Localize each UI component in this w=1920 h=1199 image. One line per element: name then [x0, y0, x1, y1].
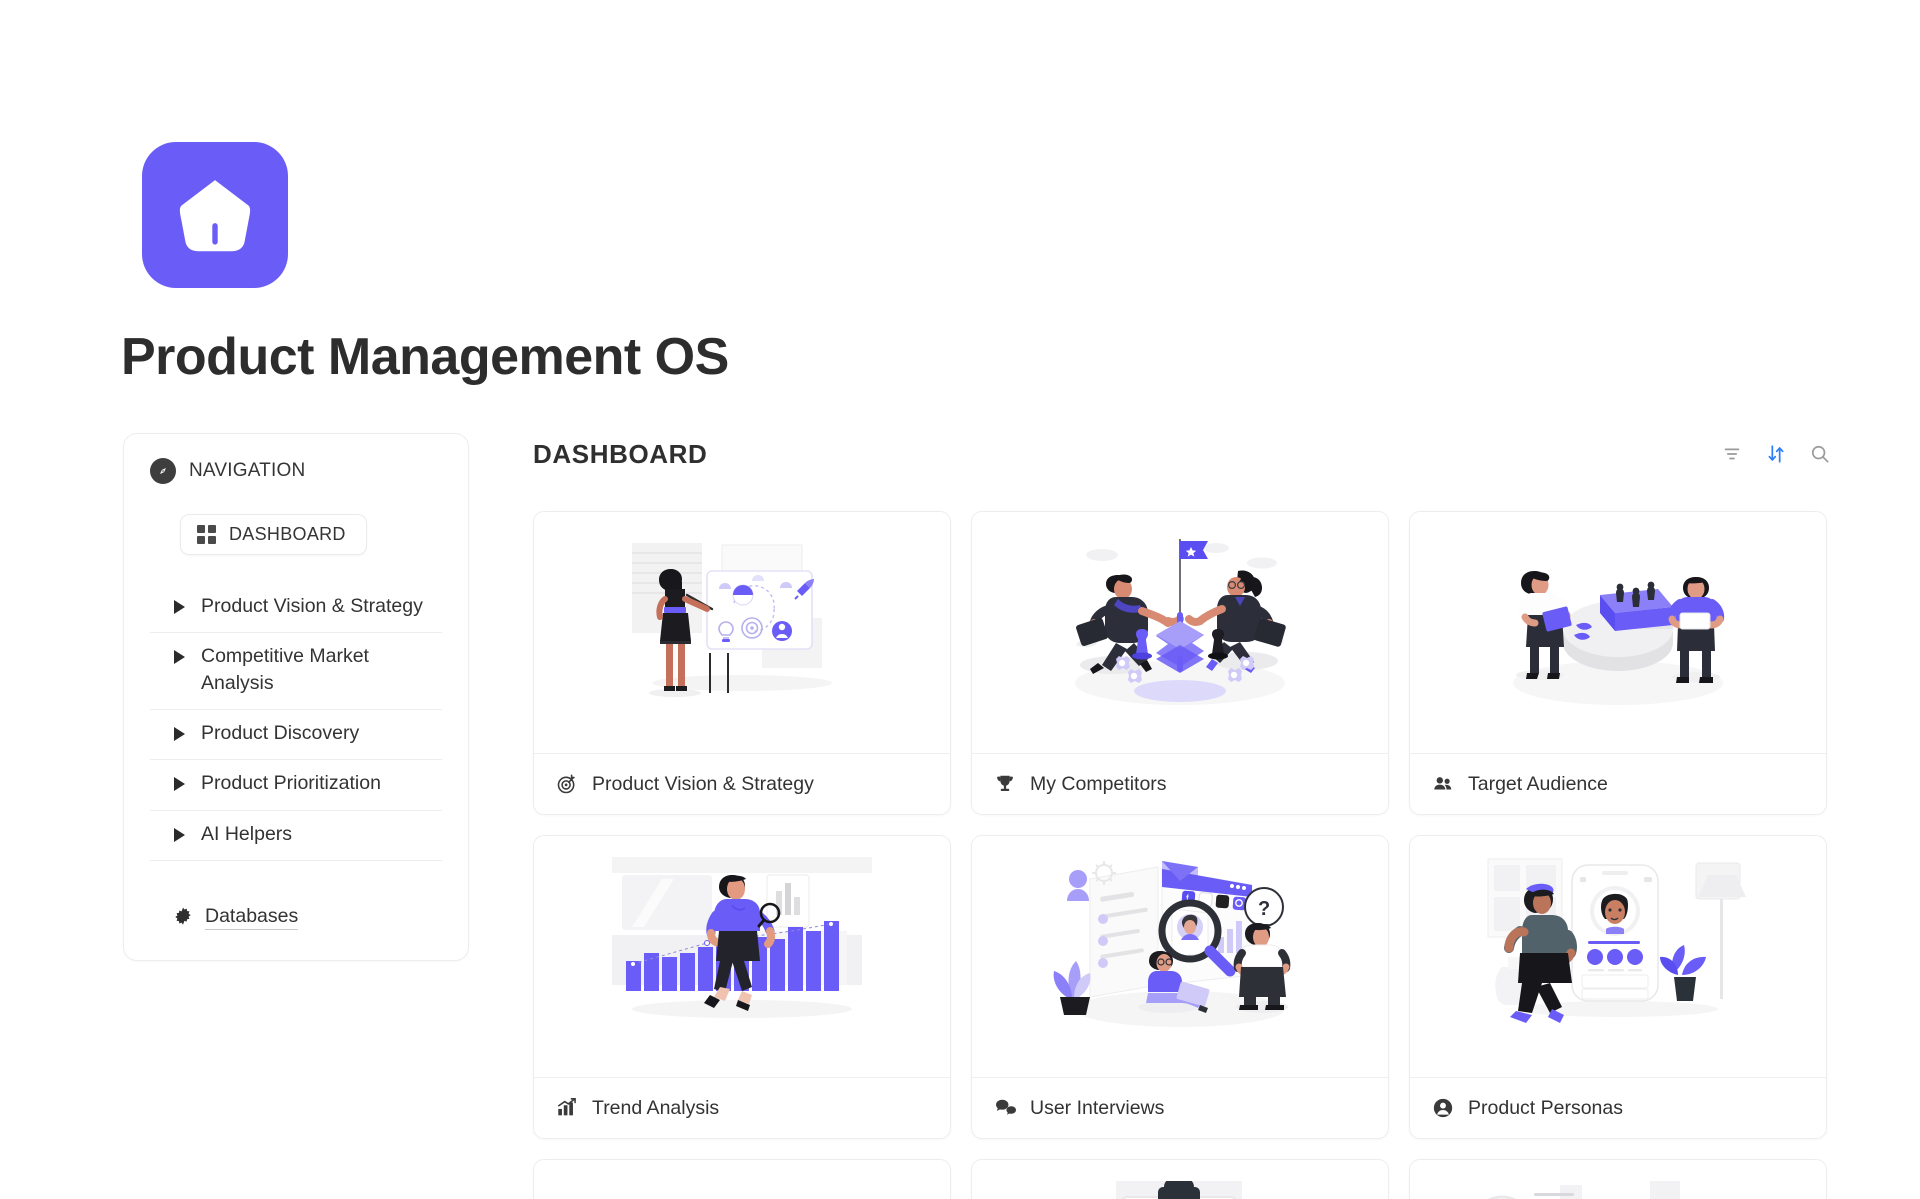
speech-bubbles-icon — [994, 1097, 1016, 1119]
card-label: Trend Analysis — [592, 1097, 719, 1120]
navigation-sidebar: NAVIGATION DASHBOARD Product Vision & St… — [123, 433, 469, 961]
dashboard-card-trend-analysis[interactable]: Trend Analysis — [533, 835, 951, 1139]
sidebar-item-label: Product Vision & Strategy — [201, 593, 423, 619]
card-footer: Product Personas — [1410, 1078, 1826, 1138]
card-illustration: f — [972, 836, 1388, 1078]
card-illustration — [972, 512, 1388, 754]
pie-chart-with-people-illustration — [1468, 533, 1768, 733]
compass-icon — [150, 458, 176, 484]
man-with-magnifier-and-bars-illustration — [592, 857, 892, 1057]
card-illustration — [534, 512, 950, 754]
card-label: Target Audience — [1468, 773, 1608, 796]
card-footer: My Competitors — [972, 754, 1388, 814]
trophy-icon — [994, 773, 1016, 795]
svg-text:?: ? — [1258, 898, 1270, 920]
card-illustration — [534, 836, 950, 1078]
sort-icon[interactable] — [1765, 443, 1787, 465]
page-title: Product Management OS — [121, 327, 729, 387]
sidebar-item-label: Product Prioritization — [201, 770, 381, 796]
dashboard-toolbar — [1721, 443, 1831, 465]
sidebar-dashboard-label: DASHBOARD — [229, 524, 346, 545]
card-illustration — [1410, 836, 1826, 1078]
caret-right-icon — [174, 600, 185, 614]
house-logo-icon — [172, 172, 258, 258]
sidebar-item-dashboard[interactable]: DASHBOARD — [180, 514, 367, 555]
main-content: DASHBOARD — [533, 433, 1831, 1199]
sidebar-item-label: Product Discovery — [201, 720, 359, 746]
card-illustration — [1410, 512, 1826, 754]
card-footer: Target Audience — [1410, 754, 1826, 814]
caret-right-icon — [174, 650, 185, 664]
caret-right-icon — [174, 828, 185, 842]
sidebar-nav-list: Product Vision & Strategy Competitive Ma… — [150, 591, 442, 861]
clipboard-checklist-people-illustration — [1030, 1181, 1330, 1199]
search-icon[interactable] — [1809, 443, 1831, 465]
dashboard-card-partial-checklist[interactable] — [971, 1159, 1389, 1199]
dashboard-card-user-interviews[interactable]: f — [971, 835, 1389, 1139]
card-footer: Product Vision & Strategy — [534, 754, 950, 814]
dashboard-card-product-personas[interactable]: Product Personas — [1409, 835, 1827, 1139]
sidebar-item-competitive-market-analysis[interactable]: Competitive Market Analysis — [150, 633, 442, 710]
dashboard-card-product-vision-strategy[interactable]: Product Vision & Strategy — [533, 511, 951, 815]
dashboard-card-partial-kanban[interactable] — [1409, 1159, 1827, 1199]
dashboard-card-grid: Product Vision & Strategy — [533, 511, 1831, 1199]
dashboard-card-target-audience[interactable]: Target Audience — [1409, 511, 1827, 815]
sidebar-item-product-vision-strategy[interactable]: Product Vision & Strategy — [150, 591, 442, 633]
app-logo — [142, 142, 288, 288]
card-illustration — [1410, 1160, 1826, 1199]
sidebar-item-label: Competitive Market Analysis — [201, 643, 442, 696]
kanban-board-clock-illustration — [1468, 1181, 1768, 1199]
gear-icon — [172, 906, 194, 928]
card-label: Product Vision & Strategy — [592, 773, 814, 796]
person-circle-icon — [1432, 1097, 1454, 1119]
people-group-icon — [1432, 773, 1454, 795]
dashboard-header: DASHBOARD — [533, 433, 1831, 475]
caret-right-icon — [174, 727, 185, 741]
sidebar-databases-label: Databases — [205, 905, 298, 930]
caret-right-icon — [174, 777, 185, 791]
bar-chart-trend-icon — [556, 1097, 578, 1119]
filter-icon[interactable] — [1721, 443, 1743, 465]
app-page: Product Management OS NAVIGATION DASHBOA… — [0, 0, 1920, 1199]
sidebar-item-ai-helpers[interactable]: AI Helpers — [150, 811, 442, 861]
maze-question-lightbulb-illustration: ? — [592, 1181, 892, 1199]
dashboard-card-my-competitors[interactable]: My Competitors — [971, 511, 1389, 815]
woman-presenting-whiteboard-illustration — [592, 533, 892, 733]
card-footer: Trend Analysis — [534, 1078, 950, 1138]
card-label: User Interviews — [1030, 1097, 1164, 1120]
dashboard-card-partial-maze[interactable]: ? — [533, 1159, 951, 1199]
target-icon — [556, 773, 578, 795]
navigation-header: NAVIGATION — [150, 458, 442, 484]
grid-icon — [197, 525, 216, 544]
card-label: My Competitors — [1030, 773, 1167, 796]
card-label: Product Personas — [1468, 1097, 1623, 1120]
card-illustration — [972, 1160, 1388, 1199]
card-footer: User Interviews — [972, 1078, 1388, 1138]
dashboard-title: DASHBOARD — [533, 439, 707, 470]
card-illustration: ? — [534, 1160, 950, 1199]
woman-with-profile-phone-illustration — [1468, 857, 1768, 1057]
research-panels-magnifier-illustration: f — [1030, 857, 1330, 1057]
sidebar-item-label: AI Helpers — [201, 821, 292, 847]
navigation-header-label: NAVIGATION — [189, 460, 305, 482]
sidebar-item-databases[interactable]: Databases — [150, 905, 442, 930]
sidebar-item-product-prioritization[interactable]: Product Prioritization — [150, 760, 442, 810]
two-people-racing-to-flag-illustration — [1030, 533, 1330, 733]
sidebar-item-product-discovery[interactable]: Product Discovery — [150, 710, 442, 760]
